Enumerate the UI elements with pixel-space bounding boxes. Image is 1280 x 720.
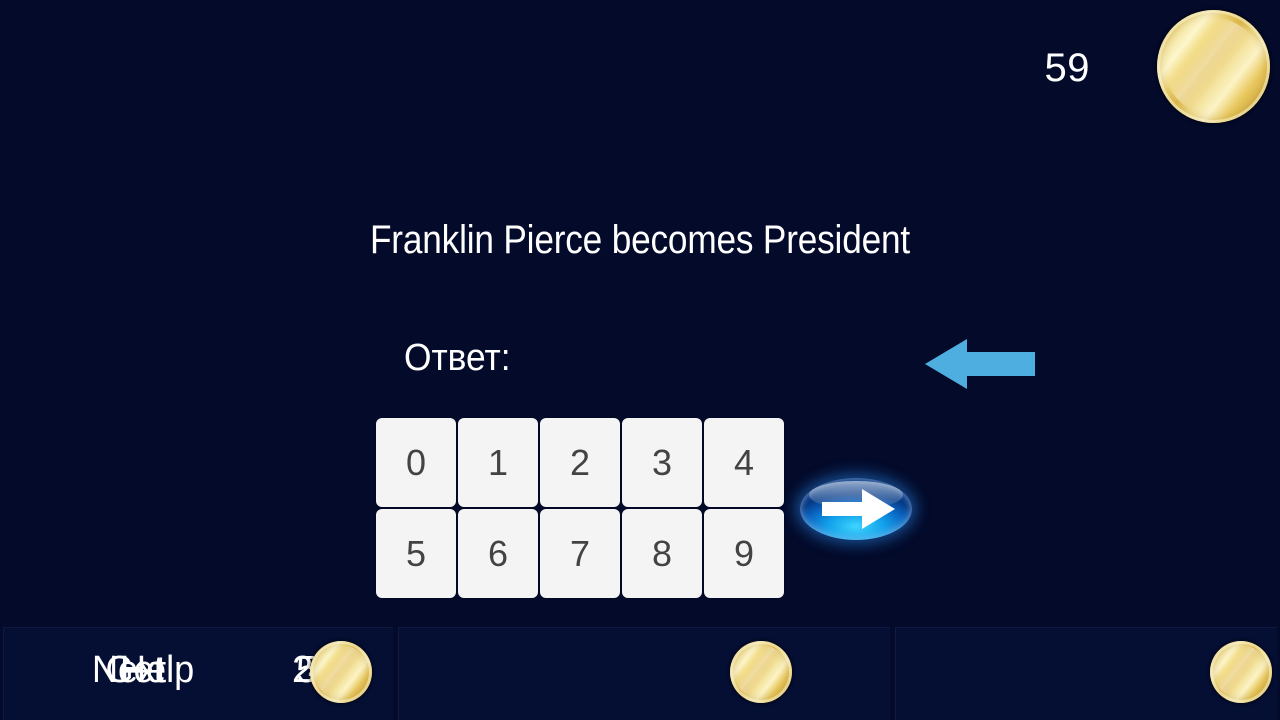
gold-coin-icon — [730, 641, 792, 703]
coin-count-label: 59 — [1000, 40, 1090, 96]
keypad-row-bottom: 5 6 7 8 9 — [376, 509, 784, 598]
question-text: Franklin Pierce becomes President — [77, 218, 1203, 263]
backspace-button[interactable] — [925, 333, 1037, 395]
keypad-row-top: 0 1 2 3 4 — [376, 418, 784, 507]
right-arrow-submit-icon — [800, 478, 912, 540]
next-button-label: Next — [92, 649, 166, 692]
gold-coin-icon — [310, 641, 372, 703]
key-6[interactable]: 6 — [458, 509, 538, 598]
answer-label: Ответ: — [404, 337, 511, 380]
key-2[interactable]: 2 — [540, 418, 620, 507]
key-9[interactable]: 9 — [704, 509, 784, 598]
key-7[interactable]: 7 — [540, 509, 620, 598]
left-arrow-backspace-icon — [925, 333, 1037, 395]
gold-coin-icon — [1210, 641, 1272, 703]
key-4[interactable]: 4 — [704, 418, 784, 507]
answer-value-field[interactable] — [540, 337, 900, 383]
key-3[interactable]: 3 — [622, 418, 702, 507]
submit-button[interactable] — [800, 478, 912, 540]
key-0[interactable]: 0 — [376, 418, 456, 507]
help-button[interactable] — [398, 627, 890, 720]
bottom-action-bar: Get 5 Help 4 Next 2 — [0, 627, 1280, 720]
gold-coin-icon — [1157, 10, 1270, 123]
key-1[interactable]: 1 — [458, 418, 538, 507]
top-status-bar: 59 — [0, 0, 1280, 140]
numeric-keypad: 0 1 2 3 4 5 6 7 8 9 — [376, 418, 784, 598]
key-8[interactable]: 8 — [622, 509, 702, 598]
key-5[interactable]: 5 — [376, 509, 456, 598]
